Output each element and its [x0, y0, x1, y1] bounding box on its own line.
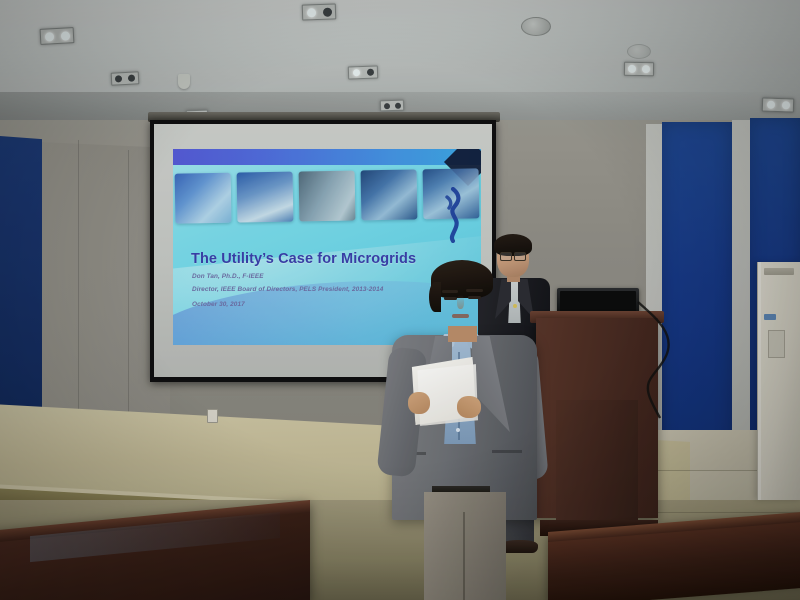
speaker-hand-right	[457, 396, 481, 418]
ceiling-speaker	[521, 17, 551, 36]
slide-photo-strip	[173, 164, 481, 227]
speaker-trousers	[424, 492, 506, 600]
ceiling-speaker	[627, 44, 651, 59]
ieee-logo-icon	[441, 187, 465, 243]
photo-engineer-icon	[361, 169, 418, 220]
laptop-screen	[560, 291, 636, 312]
ceiling-sensor	[178, 74, 190, 89]
slide-title: The Utility’s Case for Microgrids	[191, 251, 416, 267]
slide-date: October 30, 2017	[192, 301, 245, 308]
ceiling-light-fixture	[380, 100, 404, 112]
speaker-shirt-button	[456, 428, 460, 432]
slide-presenter: Don Tan, Ph.D., F-IEEE	[192, 273, 264, 280]
ceiling-light-fixture	[111, 71, 140, 85]
ceiling-light-fixture	[302, 3, 337, 20]
air-conditioner-unit	[757, 262, 800, 500]
power-cable	[636, 300, 680, 420]
speaker-eyebrow	[442, 290, 458, 293]
speaker-jacket-pocket	[492, 450, 522, 453]
wall-strip	[732, 120, 750, 472]
slide-top-bar	[173, 149, 481, 165]
podium-column	[556, 400, 638, 530]
glasses-icon	[500, 252, 526, 259]
presentation-slide: The Utility’s Case for Microgrids Don Ta…	[173, 149, 481, 345]
photo-researcher-icon	[237, 172, 294, 223]
ceiling-light-fixture	[348, 65, 378, 79]
speaker-eyebrow	[466, 289, 483, 292]
slide-affiliation: Director, IEEE Board of Directors, PELS …	[192, 286, 383, 293]
speaker-nose	[457, 295, 464, 309]
photo-antenna-icon	[175, 173, 232, 224]
speaker-hair-side	[429, 282, 441, 312]
ceiling-light-fixture	[40, 27, 75, 45]
left-blue-panel	[0, 136, 42, 439]
lecture-hall-photo: The Utility’s Case for Microgrids Don Ta…	[0, 0, 800, 600]
speaker-trouser-seam	[463, 512, 465, 600]
speaker-hand-left	[408, 392, 430, 414]
ac-control-panel[interactable]	[768, 330, 785, 358]
ac-brand-badge	[764, 314, 776, 320]
ac-edge	[758, 262, 761, 500]
wall-power-outlet	[207, 409, 218, 423]
speaker-mouth	[452, 314, 469, 318]
host-lapel-pin	[513, 304, 517, 308]
wall-seam	[128, 150, 129, 440]
photo-circuit-probe-icon	[299, 171, 356, 222]
ac-vent-icon	[764, 268, 794, 275]
speaker-eye	[444, 297, 457, 300]
speaker-eye	[468, 296, 481, 299]
wall-seam	[78, 140, 79, 440]
ceiling-light-fixture	[762, 97, 794, 112]
ceiling-light-fixture	[624, 62, 654, 77]
